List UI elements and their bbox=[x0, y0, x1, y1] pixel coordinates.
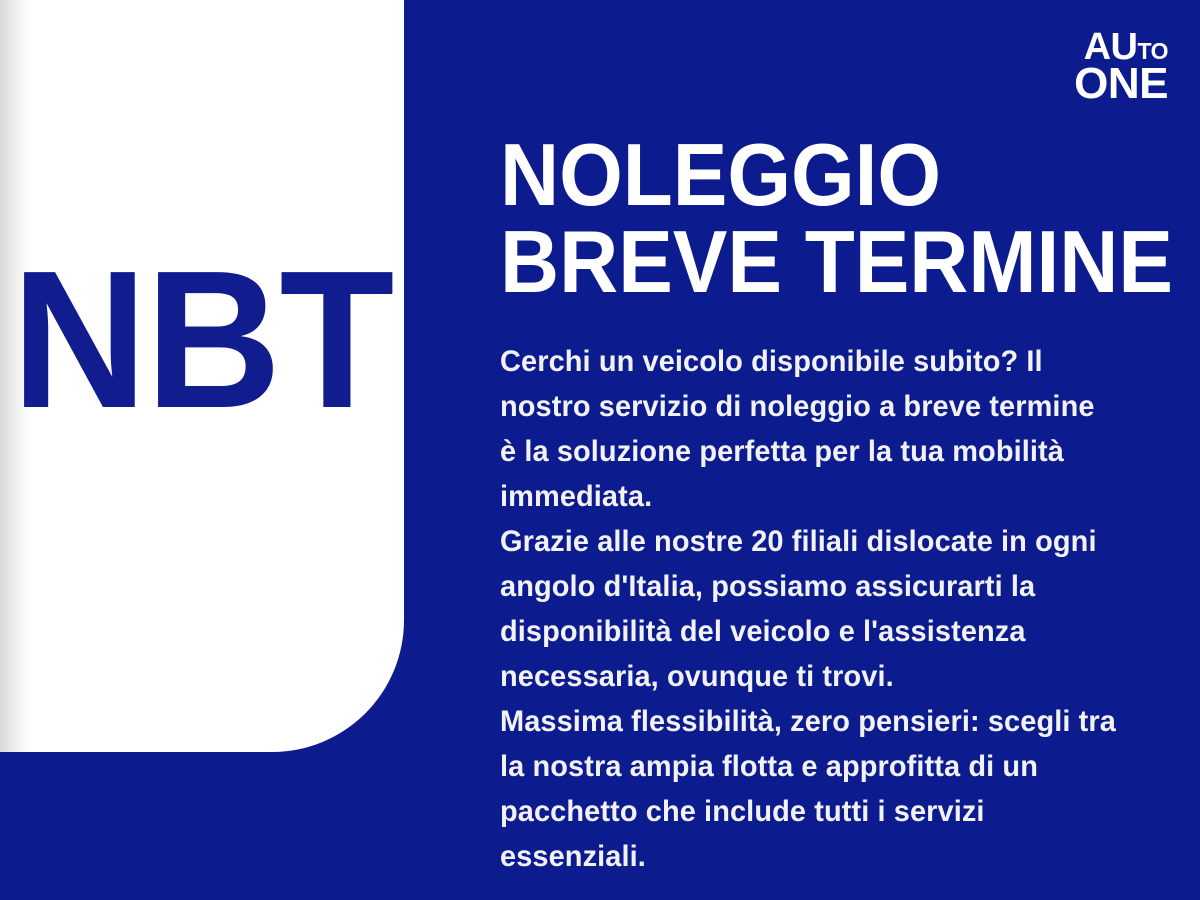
nbt-monogram: NBT bbox=[8, 242, 396, 438]
promo-poster: NBT AUTO ONE NOLEGGIO BREVE TERMINE Cerc… bbox=[0, 0, 1200, 900]
body-paragraph-1: Cerchi un veicolo disponibile subito? Il… bbox=[500, 339, 1118, 519]
brand-logo-autoone: AUTO ONE bbox=[1074, 30, 1168, 105]
headline-line-2: BREVE TERMINE bbox=[500, 218, 1132, 305]
body-copy: Cerchi un veicolo disponibile subito? Il… bbox=[500, 339, 1118, 879]
body-paragraph-2: Grazie alle nostre 20 filiali dislocate … bbox=[500, 519, 1118, 699]
headline-line-1: NOLEGGIO bbox=[500, 131, 1132, 218]
body-paragraph-3: Massima flessibilità, zero pensieri: sce… bbox=[500, 699, 1118, 879]
page-title: NOLEGGIO BREVE TERMINE bbox=[500, 131, 1132, 305]
logo-line-one: ONE bbox=[1074, 63, 1168, 105]
